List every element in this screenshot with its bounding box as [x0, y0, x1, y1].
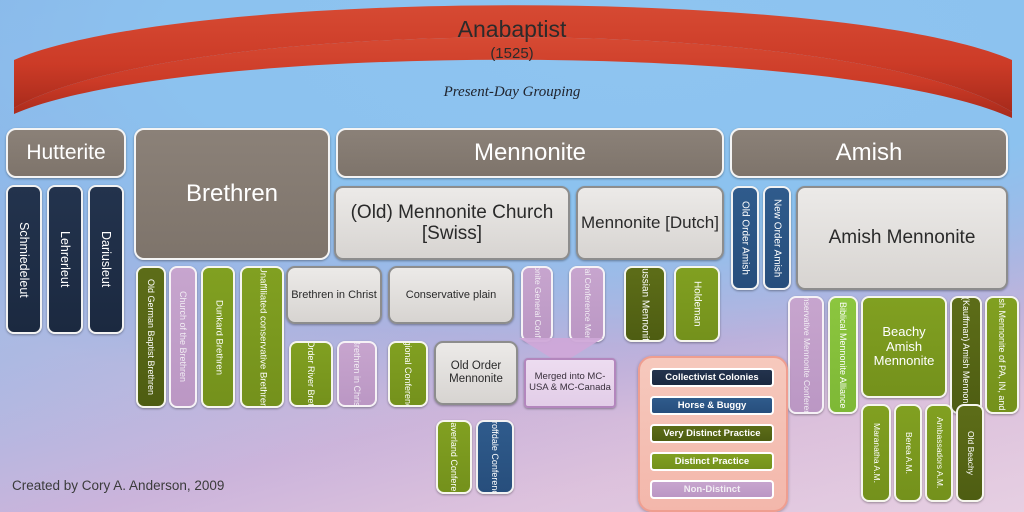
group-label: Amish — [834, 139, 905, 168]
node-label: Merged into MC-USA & MC-Canada — [526, 371, 614, 394]
node-unaffiliated-conservative-brethren[interactable]: Unaffiliated conservative Brethren — [240, 266, 284, 408]
legend-item-distinct-practice[interactable]: Distinct Practice — [650, 452, 774, 471]
node-label: Old Beachy — [963, 430, 977, 476]
node-dariusleut[interactable]: Dariusleut — [88, 185, 124, 334]
node-general-conference-mennonite[interactable]: General Conference Mennonite — [569, 266, 605, 342]
subtitle: Present-Day Grouping — [0, 84, 1024, 101]
node-groffdale-conference[interactable]: Groffdale Conference — [476, 420, 514, 494]
group-header-brethren[interactable]: Brethren — [134, 128, 330, 260]
node-conservative-mennonite-conference[interactable]: Conservative Mennonite Conference — [788, 296, 824, 414]
legend-item-non-distinct[interactable]: Non-Distinct — [650, 480, 774, 499]
node-label: Maranatha A.M. — [869, 422, 883, 484]
node-new-order-amish[interactable]: New Order Amish — [763, 186, 791, 290]
node-mennonite-dutch[interactable]: Mennonite [Dutch] — [576, 186, 724, 260]
node-label: Biblical Mennonite Alliance — [836, 301, 850, 410]
node-kauffman-amish-mennonite[interactable]: (Kauffman) Amish Mennonite — [950, 296, 982, 414]
anabaptist-banner: Anabaptist (1525) — [0, 0, 1024, 120]
node-label: Groffdale Conference — [488, 420, 502, 494]
node-old-german-baptist-brethren[interactable]: Old German Baptist Brethren — [136, 266, 166, 408]
legend-panel: Collectivist Colonies Horse & Buggy Very… — [638, 356, 788, 512]
banner-arc-icon — [0, 0, 1024, 120]
node-label: General Conference Mennonite — [580, 266, 594, 342]
node-label: New Order Amish — [769, 198, 784, 278]
node-label: Weaverland Conference — [447, 420, 461, 494]
node-mennonite-general-conference[interactable]: Mennonite General Conference — [521, 266, 553, 342]
node-brethren-in-christ-group[interactable]: Brethren in Christ — [286, 266, 382, 324]
node-beachy-amish-mennonite[interactable]: Beachy Amish Mennonite — [861, 296, 947, 398]
node-holdeman[interactable]: Holdeman — [674, 266, 720, 342]
node-label: Holdeman — [689, 280, 704, 328]
node-label: Old German Baptist Brethren — [144, 278, 158, 396]
node-label: Dariusleut — [97, 230, 115, 288]
node-label: (Kauffman) Amish Mennonite — [959, 296, 973, 414]
group-label: Brethren — [184, 180, 280, 209]
diagram-canvas: Anabaptist (1525) Present-Day Grouping H… — [0, 0, 1024, 512]
node-conservative-plain[interactable]: Conservative plain — [388, 266, 514, 324]
node-russian-mennonite[interactable]: Russian Mennonite — [624, 266, 666, 342]
node-label: Brethren in Christ — [289, 288, 379, 302]
node-label: Conservative plain — [404, 288, 499, 302]
node-label: Amish Mennonite of PA, IN, and ON — [995, 296, 1009, 414]
legend-label: Non-Distinct — [684, 484, 740, 495]
node-label: Berea A.M. — [901, 431, 915, 475]
node-brethren-in-christ[interactable]: Brethren in Christ — [337, 341, 377, 407]
node-weaverland-conference[interactable]: Weaverland Conference — [436, 420, 472, 494]
node-label: Brethren in Christ — [350, 341, 364, 407]
node-label: Conservative Mennonite Conference — [799, 296, 813, 414]
legend-item-collectivist-colonies[interactable]: Collectivist Colonies — [650, 368, 774, 387]
node-lehrerleut[interactable]: Lehrerleut — [47, 185, 83, 334]
credit-text: Created by Cory A. Anderson, 2009 — [12, 478, 224, 493]
node-label: (Old) Mennonite Church [Swiss] — [336, 201, 568, 246]
node-label: Dunkard Brethren — [211, 299, 226, 376]
group-label: Mennonite — [472, 139, 588, 168]
node-regional-conferences[interactable]: Regional Conferences — [388, 341, 428, 407]
node-old-mennonite-church-swiss[interactable]: (Old) Mennonite Church [Swiss] — [334, 186, 570, 260]
legend-item-horse-and-buggy[interactable]: Horse & Buggy — [650, 396, 774, 415]
legend-label: Very Distinct Practice — [663, 428, 760, 439]
legend-label: Horse & Buggy — [678, 400, 747, 411]
node-berea-am[interactable]: Berea A.M. — [894, 404, 922, 502]
merge-arrow-icon — [519, 338, 603, 360]
node-biblical-mennonite-alliance[interactable]: Biblical Mennonite Alliance — [828, 296, 858, 414]
node-label: Lehrerleut — [56, 230, 74, 288]
node-merged-into-note: Merged into MC-USA & MC-Canada — [524, 358, 616, 408]
node-amish-mennonite[interactable]: Amish Mennonite — [796, 186, 1008, 290]
node-old-order-mennonite[interactable]: Old Order Mennonite — [434, 341, 518, 405]
node-label: Old Order River Brethren — [304, 341, 318, 407]
node-label: Mennonite General Conference — [530, 266, 544, 342]
node-label: Amish Mennonite — [827, 226, 978, 249]
group-header-amish[interactable]: Amish — [730, 128, 1008, 178]
node-ambassadors-am[interactable]: Ambassadors A.M. — [925, 404, 953, 502]
node-label: Unaffiliated conservative Brethren — [255, 266, 270, 408]
node-label: Schmiedeleut — [15, 221, 33, 299]
node-label: Beachy Amish Mennonite — [863, 324, 945, 370]
node-schmiedeleut[interactable]: Schmiedeleut — [6, 185, 42, 334]
group-header-mennonite[interactable]: Mennonite — [336, 128, 724, 178]
node-dunkard-brethren[interactable]: Dunkard Brethren — [201, 266, 235, 408]
group-header-hutterite[interactable]: Hutterite — [6, 128, 126, 178]
node-maranatha-am[interactable]: Maranatha A.M. — [861, 404, 891, 502]
node-church-of-the-brethren[interactable]: Church of the Brethren — [169, 266, 197, 408]
node-old-order-amish[interactable]: Old Order Amish — [731, 186, 759, 290]
node-label: Mennonite [Dutch] — [579, 212, 721, 233]
node-label: Church of the Brethren — [176, 290, 190, 383]
legend-item-very-distinct-practice[interactable]: Very Distinct Practice — [650, 424, 774, 443]
node-label: Old Order Mennonite — [436, 359, 516, 387]
node-label: Regional Conferences — [401, 341, 415, 407]
legend-label: Collectivist Colonies — [665, 372, 758, 383]
node-old-order-river-brethren[interactable]: Old Order River Brethren — [289, 341, 333, 407]
node-old-beachy[interactable]: Old Beachy — [956, 404, 984, 502]
node-label: Ambassadors A.M. — [932, 416, 946, 489]
group-label: Hutterite — [24, 140, 107, 166]
node-label: Russian Mennonite — [637, 266, 652, 342]
legend-label: Distinct Practice — [675, 456, 749, 467]
node-label: Old Order Amish — [737, 200, 752, 276]
node-amish-mennonite-pa-in-on[interactable]: Amish Mennonite of PA, IN, and ON — [985, 296, 1019, 414]
